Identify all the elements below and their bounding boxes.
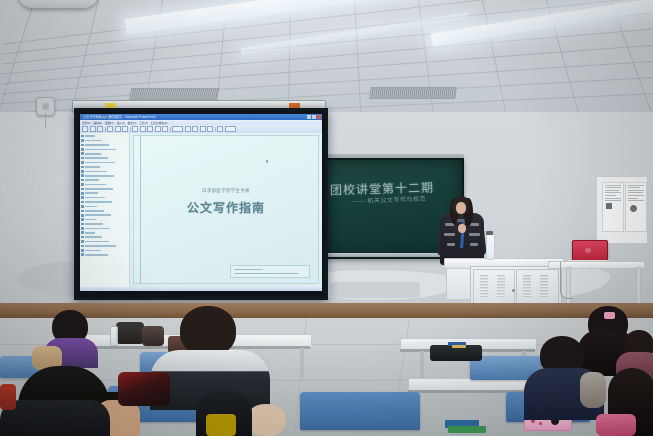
outline-row-text <box>85 157 108 159</box>
slide-thumb-icon <box>81 135 84 138</box>
slide-thumb-icon <box>81 139 84 142</box>
slide-thumb-icon <box>81 161 84 164</box>
mouse-cursor <box>266 160 268 163</box>
zoom-select[interactable] <box>172 126 183 132</box>
laptop-cable <box>560 262 573 299</box>
speaker-wire <box>45 113 46 129</box>
print-icon[interactable] <box>107 126 113 132</box>
slide-subtitle: 白求恩医学院学生手册 <box>202 188 250 194</box>
slide-thumb-icon <box>81 166 84 169</box>
cabinet-vent-4 <box>540 275 548 297</box>
cabinet-handle[interactable] <box>512 289 515 292</box>
outline-row-text <box>85 184 106 186</box>
outline-row-text <box>85 228 110 230</box>
copy-icon[interactable] <box>140 126 146 132</box>
chart-icon[interactable] <box>192 126 198 132</box>
slide-thumb-icon <box>81 148 84 151</box>
design-button[interactable] <box>225 126 236 132</box>
toolbar-separator-4 <box>215 127 216 132</box>
slide-thumb-icon <box>81 236 84 239</box>
toolbar-separator-2 <box>130 127 131 132</box>
student-item-yellow <box>206 414 236 436</box>
slide-thumb-icon <box>81 179 84 182</box>
menu-item-format[interactable]: 格式(O) <box>127 121 136 125</box>
spellcheck-icon[interactable] <box>122 126 128 132</box>
redo-icon[interactable] <box>162 126 168 132</box>
desk-bottle-1[interactable] <box>110 326 118 346</box>
outline-row-text <box>85 219 96 221</box>
slide-thumb-icon <box>81 245 84 248</box>
presenter-hand <box>458 224 466 233</box>
desk-leg-2 <box>300 348 304 378</box>
menu-item-slideshow[interactable]: 幻灯片放映(D) <box>151 121 168 125</box>
paste-icon[interactable] <box>147 126 153 132</box>
outline-row-text <box>85 245 116 247</box>
slide-thumb-icon <box>81 249 84 252</box>
outline-row-text <box>85 149 116 151</box>
presenter-face <box>456 202 466 214</box>
cabinet-vent-1 <box>480 275 488 297</box>
outline-row-text <box>85 206 97 208</box>
current-slide[interactable]: 白求恩医学院学生手册 公文写作指南 <box>133 135 319 284</box>
ppt-workspace: 白求恩医学院学生手册 公文写作指南 <box>80 133 322 287</box>
outline-row-text <box>85 214 111 216</box>
outline-row-text <box>85 144 109 146</box>
ceiling-projector <box>18 0 98 8</box>
slide-thumb-icon <box>81 183 84 186</box>
outline-row-text <box>85 250 101 252</box>
help-icon[interactable] <box>217 126 223 132</box>
slide-left-rule <box>140 136 141 283</box>
ppt-toolbar[interactable] <box>80 125 322 133</box>
undo-icon[interactable] <box>155 126 161 132</box>
ceiling-vent-1 <box>129 88 220 100</box>
ppt-status-bar <box>80 287 322 291</box>
cut-icon[interactable] <box>132 126 138 132</box>
slide-thumb-icon <box>81 205 84 208</box>
powerpoint-window: 公文写作指南.ppt [兼容模式] - Microsoft PowerPoint… <box>80 114 322 291</box>
water-bottle[interactable] <box>486 234 495 260</box>
menu-item-file[interactable]: 文件(F) <box>82 121 91 125</box>
outline-row-text <box>85 179 99 181</box>
outline-row-text <box>85 175 114 177</box>
outline-row[interactable] <box>81 253 129 257</box>
slide-thumb-icon <box>81 201 84 204</box>
outline-row-text <box>85 135 95 137</box>
student-head-2 <box>180 306 236 356</box>
slide-thumb-icon <box>81 210 84 213</box>
backpack-2[interactable] <box>142 326 164 346</box>
student-item-pink <box>596 414 636 436</box>
slide-outline-panel[interactable] <box>80 133 130 288</box>
outline-row-text <box>85 223 103 225</box>
slide-thumb-icon <box>81 223 84 226</box>
outline-row-text <box>85 162 115 164</box>
cabinet-vent-2 <box>497 275 505 297</box>
chair-front-2[interactable] <box>300 392 420 430</box>
slide-thumb-icon <box>81 188 84 191</box>
slide-thumb-icon <box>81 253 84 256</box>
slide-thumb-icon <box>81 196 84 199</box>
outline-row-text <box>85 153 101 155</box>
slide-thumb-icon <box>81 144 84 147</box>
desk-book-2[interactable] <box>452 345 466 348</box>
slide-thumb-icon <box>81 170 84 173</box>
outline-row-text <box>85 197 105 199</box>
menu-item-insert[interactable]: 插入(I) <box>117 121 125 125</box>
slide-thumb-icon <box>81 157 84 160</box>
slide-thumb-icon <box>81 218 84 221</box>
maximize-icon[interactable] <box>312 115 316 119</box>
outline-row-text <box>85 241 109 243</box>
laptop-logo <box>585 248 591 253</box>
slide-canvas[interactable]: 白求恩医学院学生手册 公文写作指南 <box>130 133 322 287</box>
slide-thumb-icon <box>81 174 84 177</box>
slide-thumb-icon <box>81 231 84 234</box>
desk-book-6[interactable] <box>448 426 486 433</box>
notice-poster-2[interactable] <box>625 182 647 232</box>
backpack-1[interactable] <box>116 322 144 344</box>
new-icon[interactable] <box>82 126 88 132</box>
notice-poster-1[interactable] <box>602 182 624 232</box>
slide-thumb-icon <box>81 240 84 243</box>
student-body-3 <box>0 400 110 436</box>
menu-item-tools[interactable]: 工具(T) <box>139 121 148 125</box>
window-controls[interactable] <box>307 115 321 119</box>
equipment-desk-leg-right <box>636 267 641 307</box>
cabinet-vent-3 <box>523 275 531 297</box>
save-icon[interactable] <box>97 126 103 132</box>
slide-title: 公文写作指南 <box>187 199 265 216</box>
hair-clip <box>604 312 615 319</box>
outline-row-text <box>85 188 113 190</box>
slide-thumb-icon <box>81 152 84 155</box>
stage-edge <box>0 303 653 319</box>
outline-row-text <box>85 254 108 256</box>
classroom-scene: 团校讲堂第十二期 —— 机关公文写作与规范 公文写作指南.ppt [兼容模式] … <box>0 0 653 436</box>
outline-row-text <box>85 166 100 168</box>
table-icon[interactable] <box>185 126 191 132</box>
outline-row-text <box>85 210 104 212</box>
student-item-red[interactable] <box>0 384 16 410</box>
preview-icon[interactable] <box>115 126 121 132</box>
menu-item-edit[interactable]: 编辑(E) <box>94 121 103 125</box>
close-icon[interactable] <box>317 115 321 119</box>
ceiling-vent-2 <box>369 87 457 99</box>
shapes-icon[interactable] <box>207 126 213 132</box>
wall-blemish-3 <box>330 282 420 298</box>
sports-bag[interactable] <box>118 372 170 406</box>
outline-row-text <box>85 140 102 142</box>
slide-thumb-icon <box>81 214 84 217</box>
toolbar-separator-1 <box>105 127 106 132</box>
outline-row-text <box>85 201 112 203</box>
slide-thumb-icon <box>81 192 84 195</box>
toolbar-separator-3 <box>170 127 171 132</box>
outline-row-text <box>85 236 102 238</box>
outline-row-text <box>85 171 107 173</box>
minimize-icon[interactable] <box>307 115 311 119</box>
projection-screen: 公文写作指南.ppt [兼容模式] - Microsoft PowerPoint… <box>74 108 328 300</box>
bottle-cap <box>486 231 493 235</box>
outline-row-text <box>85 192 98 194</box>
picture-icon[interactable] <box>200 126 206 132</box>
open-icon[interactable] <box>90 126 96 132</box>
menu-item-view[interactable]: 视图(V) <box>105 121 114 125</box>
student-head-8 <box>246 404 286 436</box>
outline-row-text <box>85 232 95 234</box>
fur-collar <box>580 372 606 408</box>
slide-thumb-icon <box>81 227 84 230</box>
slide-footer-note <box>230 265 310 278</box>
ppt-title-text: 公文写作指南.ppt [兼容模式] - Microsoft PowerPoint <box>83 115 156 119</box>
